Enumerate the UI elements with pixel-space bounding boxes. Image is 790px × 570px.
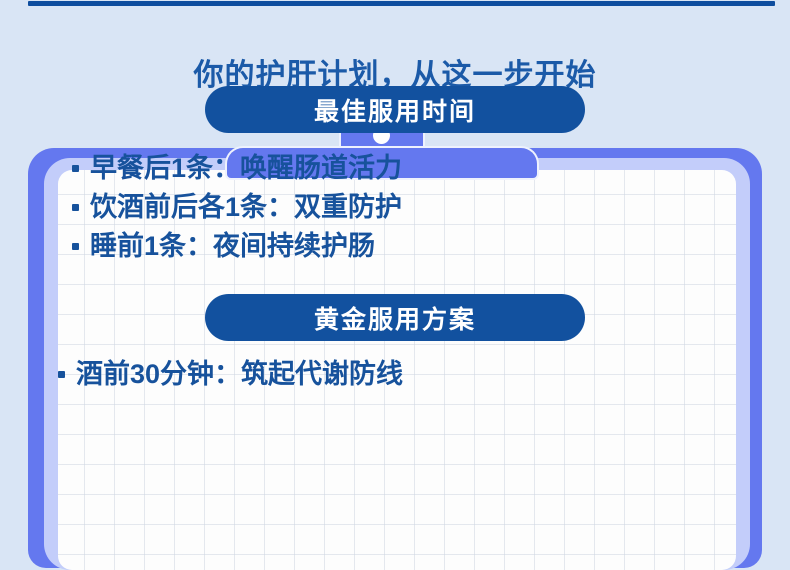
- bullet-list-best-time: 早餐后1条：唤醒肠道活力 饮酒前后各1条：双重防护 睡前1条：夜间持续护肠: [58, 155, 732, 260]
- bullet-dot-icon: [72, 165, 79, 172]
- bullet-dot-icon: [58, 371, 65, 378]
- top-accent-rule: [28, 1, 775, 6]
- bullet-dot-icon: [72, 243, 79, 250]
- section-badge-best-time: 最佳服用时间: [205, 86, 585, 133]
- bullet-dot-icon: [72, 204, 79, 211]
- list-item-label: 睡前1条：夜间持续护肠: [90, 233, 375, 260]
- list-item: 睡前1条：夜间持续护肠: [68, 233, 732, 260]
- list-item: 早餐后1条：唤醒肠道活力: [68, 155, 732, 182]
- list-item-label: 饮酒前后各1条：双重防护: [90, 194, 402, 221]
- list-item: 酒前30分钟：筑起代谢防线: [58, 361, 732, 388]
- list-item-label: 酒前30分钟：筑起代谢防线: [76, 361, 403, 388]
- paper-content: 最佳服用时间 早餐后1条：唤醒肠道活力 饮酒前后各1条：双重防护 睡前1条：夜间…: [58, 22, 732, 420]
- list-item-label: 早餐后1条：唤醒肠道活力: [90, 155, 402, 182]
- bullet-list-golden-plan: 酒前30分钟：筑起代谢防线: [58, 361, 732, 388]
- section-badge-golden-plan: 黄金服用方案: [205, 294, 585, 341]
- list-item: 饮酒前后各1条：双重防护: [68, 194, 732, 221]
